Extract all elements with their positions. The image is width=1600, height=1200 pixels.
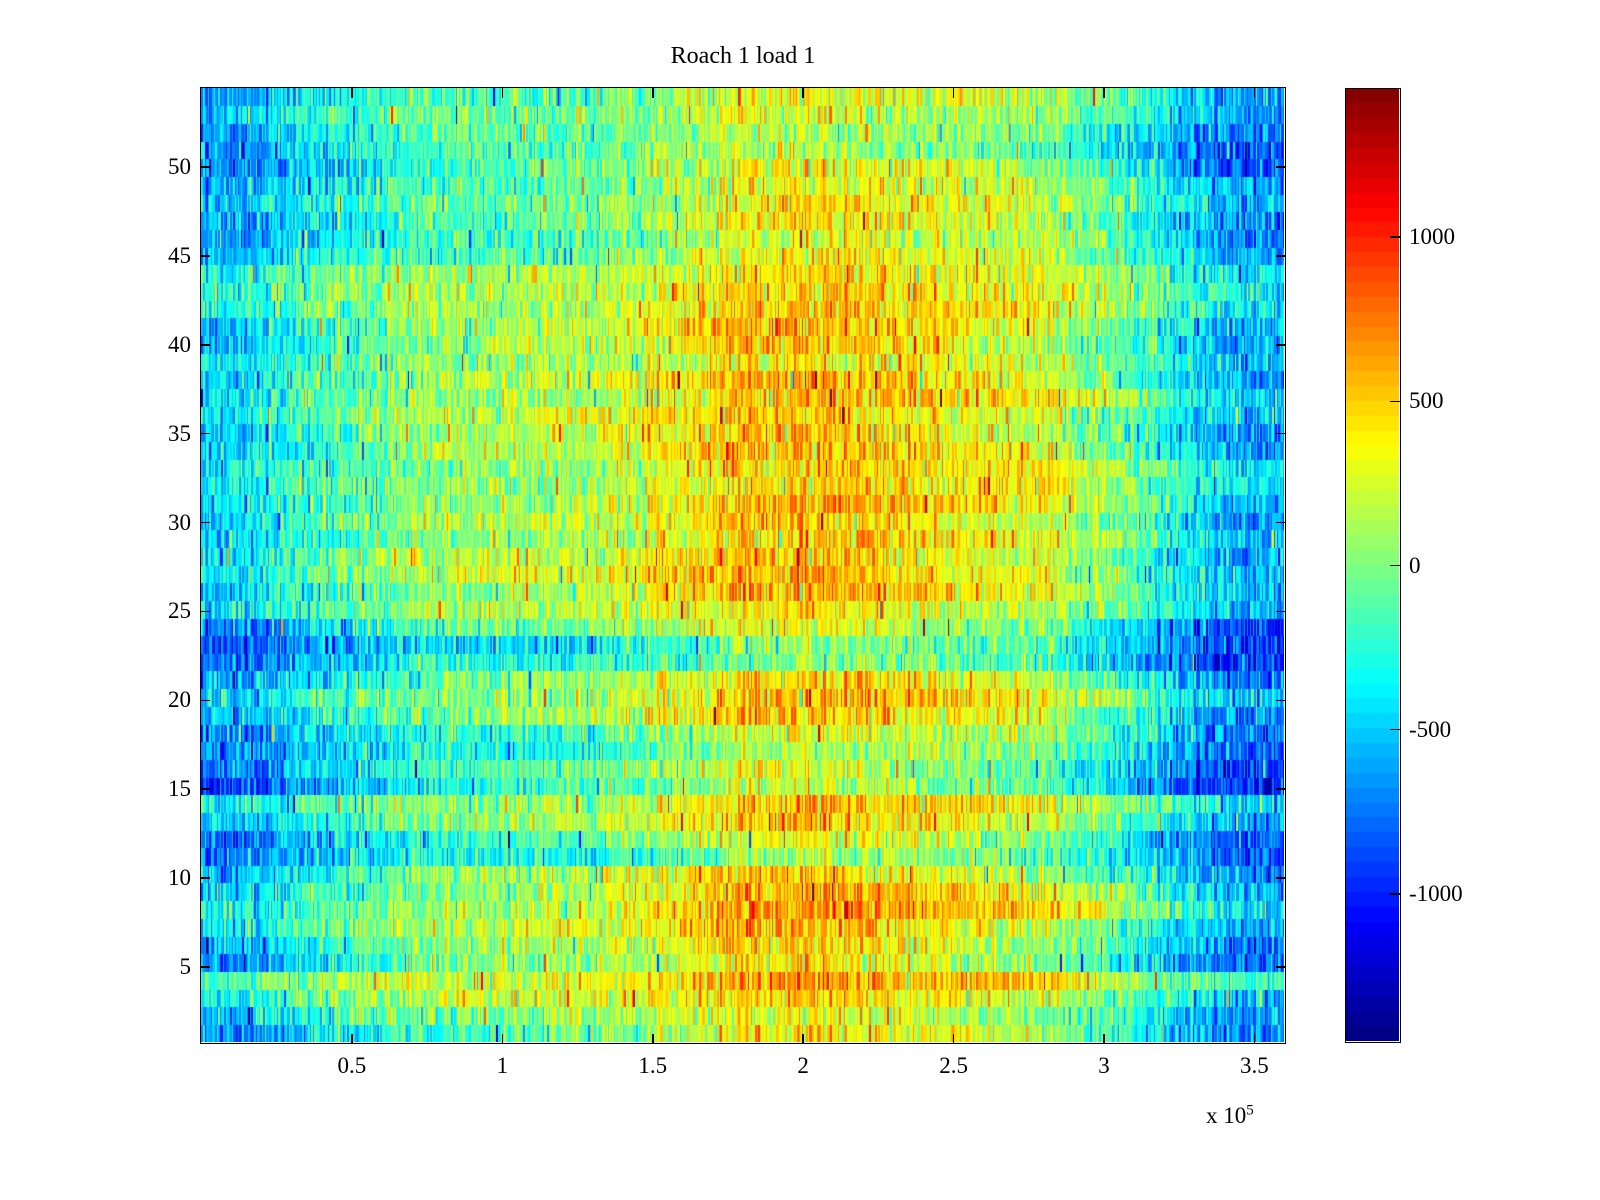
y-tick-mark-right — [1276, 344, 1286, 346]
x-tick-mark — [1254, 1034, 1256, 1044]
x-tick-mark-top — [502, 88, 504, 98]
y-tick-label: 45 — [168, 244, 191, 267]
y-tick-mark — [200, 877, 210, 879]
x-tick-mark — [1103, 1034, 1105, 1044]
y-tick-mark — [200, 433, 210, 435]
x-tick-label: 2 — [743, 1054, 863, 1077]
figure-canvas: Roach 1 load 1 5101520253035404550 0.511… — [0, 0, 1600, 1200]
y-tick-mark — [200, 166, 210, 168]
y-tick-mark — [200, 700, 210, 702]
x-tick-mark — [351, 1034, 353, 1044]
heatmap-image — [201, 88, 1284, 1042]
x-axis-exponent-label: x 105 — [1206, 1104, 1254, 1127]
y-tick-mark — [200, 344, 210, 346]
x-tick-label: 1.5 — [593, 1054, 713, 1077]
y-tick-mark — [200, 255, 210, 257]
x-tick-mark — [652, 1034, 654, 1044]
y-tick-label: 20 — [168, 688, 191, 711]
y-tick-label: 30 — [168, 511, 191, 534]
y-tick-mark-right — [1276, 255, 1286, 257]
colorbar-tick-label: -1000 — [1409, 882, 1463, 905]
y-tick-mark-right — [1276, 433, 1286, 435]
colorbar-tick-mark — [1390, 729, 1401, 731]
x-tick-label: 2.5 — [894, 1054, 1014, 1077]
y-tick-mark-right — [1276, 166, 1286, 168]
x-tick-mark-top — [953, 88, 955, 98]
x-tick-mark — [953, 1034, 955, 1044]
y-tick-label: 10 — [168, 866, 191, 889]
x-tick-mark — [802, 1034, 804, 1044]
x-tick-mark-top — [1103, 88, 1105, 98]
x-tick-mark-top — [351, 88, 353, 98]
y-tick-label: 40 — [168, 333, 191, 356]
colorbar-tick-mark — [1390, 565, 1401, 567]
y-tick-mark-right — [1276, 700, 1286, 702]
y-tick-mark-right — [1276, 788, 1286, 790]
x-tick-label: 3.5 — [1194, 1054, 1314, 1077]
x-exponent-base: x 10 — [1206, 1103, 1246, 1128]
x-tick-mark-top — [652, 88, 654, 98]
x-tick-mark-top — [1254, 88, 1256, 98]
y-tick-label: 15 — [168, 777, 191, 800]
y-tick-mark — [200, 966, 210, 968]
x-tick-label: 1 — [442, 1054, 562, 1077]
x-tick-mark-top — [802, 88, 804, 98]
colorbar-tick-mark — [1390, 893, 1401, 895]
y-tick-mark — [200, 788, 210, 790]
y-tick-mark-right — [1276, 966, 1286, 968]
colorbar-tick-mark — [1390, 236, 1401, 238]
y-tick-label: 50 — [168, 155, 191, 178]
y-tick-mark-right — [1276, 611, 1286, 613]
x-tick-mark — [502, 1034, 504, 1044]
x-tick-label: 3 — [1044, 1054, 1164, 1077]
y-tick-mark — [200, 611, 210, 613]
page-title: Roach 1 load 1 — [200, 42, 1286, 70]
colorbar-tick-label: 1000 — [1409, 225, 1455, 248]
x-tick-label: 0.5 — [292, 1054, 412, 1077]
y-tick-mark — [200, 522, 210, 524]
colorbar-tick-mark — [1390, 401, 1401, 403]
heatmap-axes[interactable] — [200, 87, 1286, 1044]
colorbar-tick-label: 0 — [1409, 554, 1421, 577]
x-exponent-power: 5 — [1246, 1102, 1254, 1118]
y-tick-mark-right — [1276, 522, 1286, 524]
y-tick-label: 5 — [180, 955, 192, 978]
colorbar-tick-label: -500 — [1409, 718, 1451, 741]
colorbar-tick-label: 500 — [1409, 389, 1444, 412]
y-tick-label: 25 — [168, 599, 191, 622]
y-tick-label: 35 — [168, 422, 191, 445]
y-tick-mark-right — [1276, 877, 1286, 879]
